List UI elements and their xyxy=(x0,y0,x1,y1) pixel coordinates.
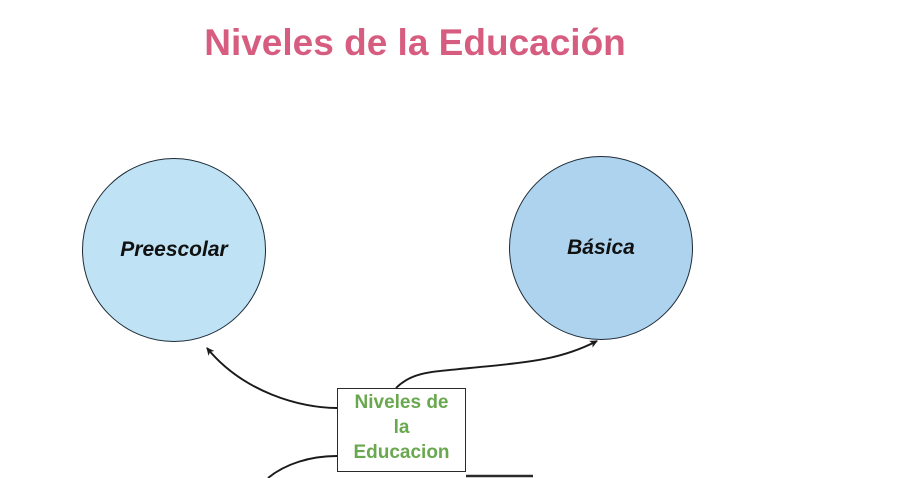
node-center-box[interactable]: Niveles de la Educacion xyxy=(337,388,466,472)
edge-center-to-lower-left xyxy=(268,456,337,478)
node-preescolar-label: Preescolar xyxy=(120,238,227,262)
node-basica-label: Básica xyxy=(567,236,635,260)
diagram-canvas: Niveles de la Educación Preescolar Básic… xyxy=(0,0,912,478)
node-center-box-label: Niveles de la Educacion xyxy=(338,390,465,465)
edge-center-to-preescolar xyxy=(207,348,337,408)
node-basica[interactable]: Básica xyxy=(509,156,693,340)
page-title: Niveles de la Educación xyxy=(0,22,830,64)
node-preescolar[interactable]: Preescolar xyxy=(82,158,266,342)
edge-center-to-basica xyxy=(396,341,597,388)
